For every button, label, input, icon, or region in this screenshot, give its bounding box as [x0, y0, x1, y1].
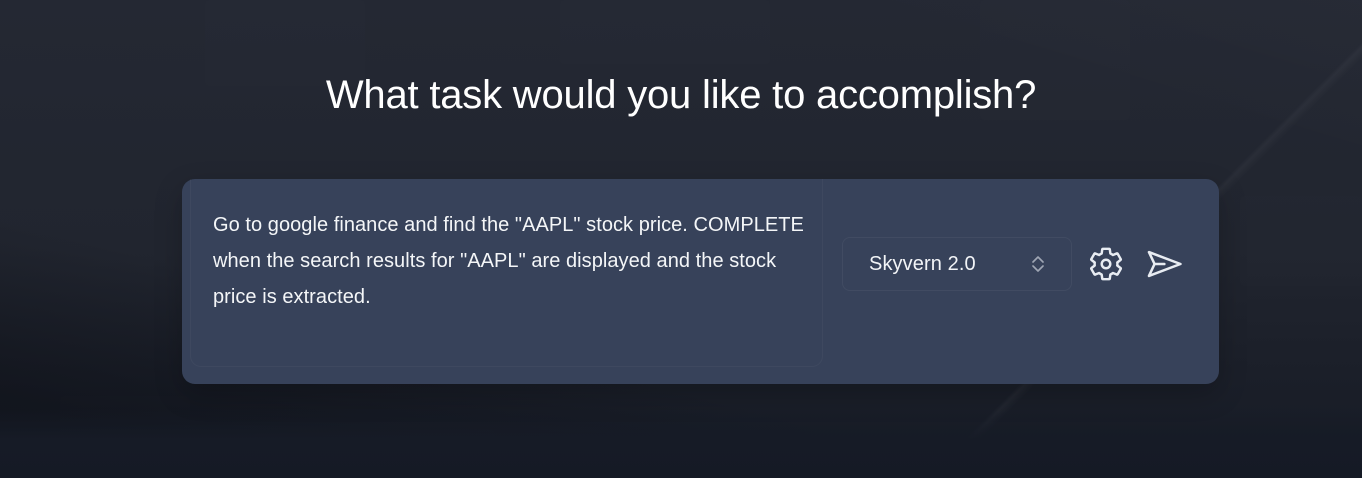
task-prompt-input[interactable]: [213, 207, 823, 367]
page-root: What task would you like to accomplish? …: [0, 0, 1362, 478]
send-icon: [1143, 243, 1185, 285]
prompt-card: Skyvern 2.0: [182, 179, 1219, 384]
settings-button[interactable]: [1080, 238, 1132, 290]
model-select-value: Skyvern 2.0: [869, 253, 976, 276]
gear-icon: [1087, 245, 1125, 283]
send-button[interactable]: [1138, 238, 1190, 290]
task-input-container: [182, 179, 823, 384]
model-select[interactable]: Skyvern 2.0: [842, 237, 1072, 291]
page-title: What task would you like to accomplish?: [326, 72, 1036, 119]
chevron-up-down-icon: [1032, 256, 1044, 272]
prompt-card-controls: Skyvern 2.0: [842, 237, 1190, 291]
